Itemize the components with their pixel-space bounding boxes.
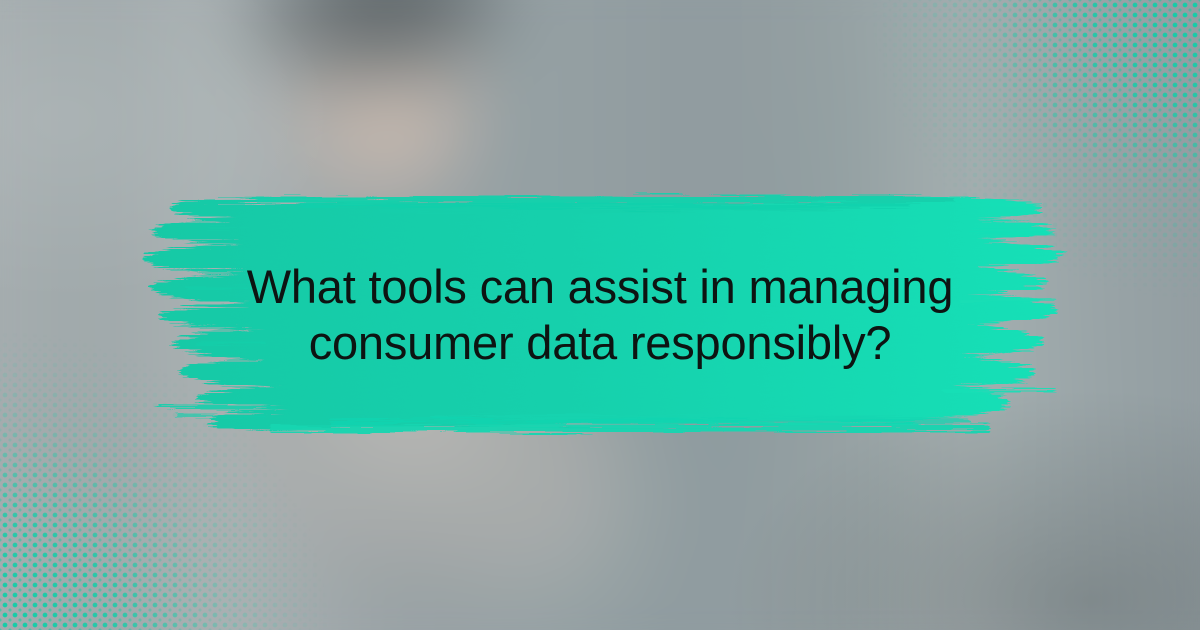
page-title: What tools can assist in managing consum… [0,259,1200,371]
question-card: What tools can assist in managing consum… [0,0,1200,630]
